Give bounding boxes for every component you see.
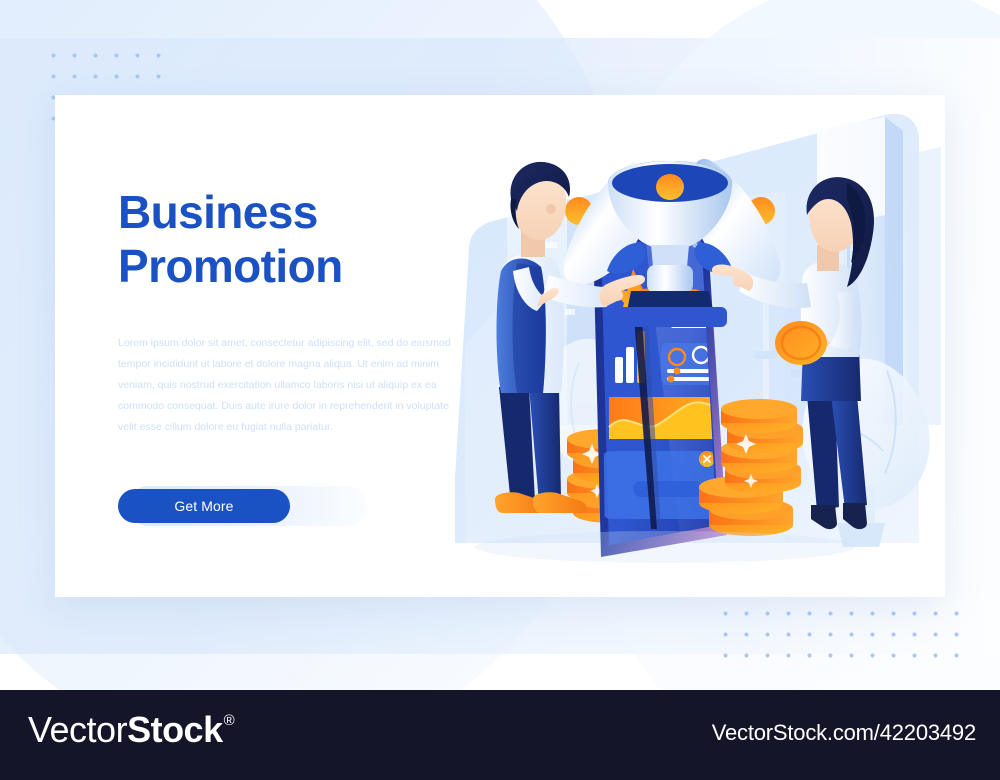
logo-registered-mark: ® [224,712,235,730]
vectorstock-logo: Vector Stock ® [28,712,235,748]
hero-illustration [455,95,945,597]
dot-grid-bottom-right [712,600,962,672]
page-title: Business Promotion [118,185,478,293]
hero-body-text: Lorem ipsum dolor sit amet, consectetur … [118,333,463,438]
headline-line-1: Business [118,186,318,238]
get-more-button[interactable]: Get More [118,489,290,523]
logo-text-light: Vector [28,712,127,748]
headline-line-2: Promotion [118,239,478,293]
area-chart [609,397,719,439]
hero-copy-column: Business Promotion Lorem ipsum dolor sit… [118,185,478,526]
logo-text-bold: Stock [127,712,223,748]
watermark-url: VectorStock.com/42203492 [712,720,976,746]
hero-card: Business Promotion Lorem ipsum dolor sit… [55,95,945,597]
illustration-stage: Business Promotion Lorem ipsum dolor sit… [0,0,1000,690]
coin-held [775,321,827,365]
watermark-footer: Vector Stock ® VectorStock.com/42203492 [0,690,1000,780]
cta-container: Get More [118,486,368,526]
